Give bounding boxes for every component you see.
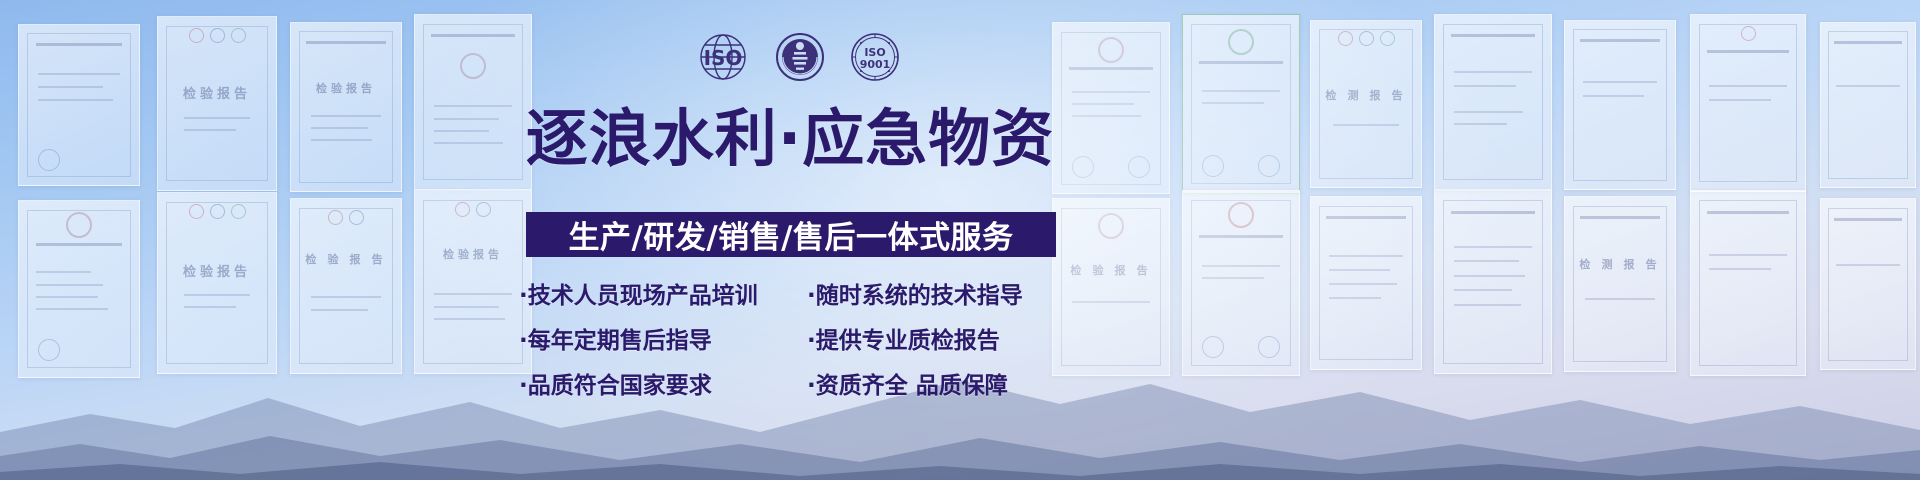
certificate-thumbnail: 检 测 报 告 [1310,20,1422,188]
promo-banner: 检验报告 检验报告 检 测 报 告 检验报告 检 验 报 告 检验报告 检 验 … [0,0,1920,480]
iso-logo-text: ISO [704,46,743,70]
certificate-thumbnail [1182,14,1300,194]
svg-text:9001: 9001 [860,58,891,71]
certificate-thumbnail [1690,14,1806,192]
certification-logo-row: ISO [695,32,901,82]
certificate-thumbnail [1564,20,1676,190]
service-subtitle-band: 生产/研发/销售/售后一体式服务 [526,212,1056,257]
feature-item: ·每年定期售后指导 [519,321,807,355]
feature-list: ·技术人员现场产品培训 ·随时系统的技术指导 ·每年定期售后指导 ·提供专业质检… [519,270,1064,405]
feature-item: ·随时系统的技术指导 [807,276,1064,310]
service-subtitle-text: 生产/研发/销售/售后一体式服务 [569,212,1014,257]
page-title: 逐浪水利·应急物资 [505,108,1075,170]
feature-row: ·每年定期售后指导 ·提供专业质检报告 [519,315,1064,360]
feature-item: ·技术人员现场产品培训 [519,276,807,310]
certificate-thumbnail [1820,22,1916,188]
ccc-emblem-logo-icon [775,32,825,82]
feature-item: ·提供专业质检报告 [807,321,1064,355]
iso-9001-badge-logo-icon: ISO 9001 [849,32,901,82]
iso-globe-logo-icon: ISO [695,32,751,82]
certificate-thumbnail [1434,14,1552,190]
feature-row: ·品质符合国家要求 ·资质齐全 品质保障 [519,360,1064,405]
feature-row: ·技术人员现场产品培训 ·随时系统的技术指导 [519,270,1064,315]
banner-content: ISO [505,26,1075,456]
certificate-thumbnail: 检验报告 [157,16,277,191]
certificate-thumbnail: 检验报告 [290,22,402,192]
feature-item: ·品质符合国家要求 [519,366,807,400]
feature-item: ·资质齐全 品质保障 [807,366,1064,400]
certificate-thumbnail [18,24,140,186]
